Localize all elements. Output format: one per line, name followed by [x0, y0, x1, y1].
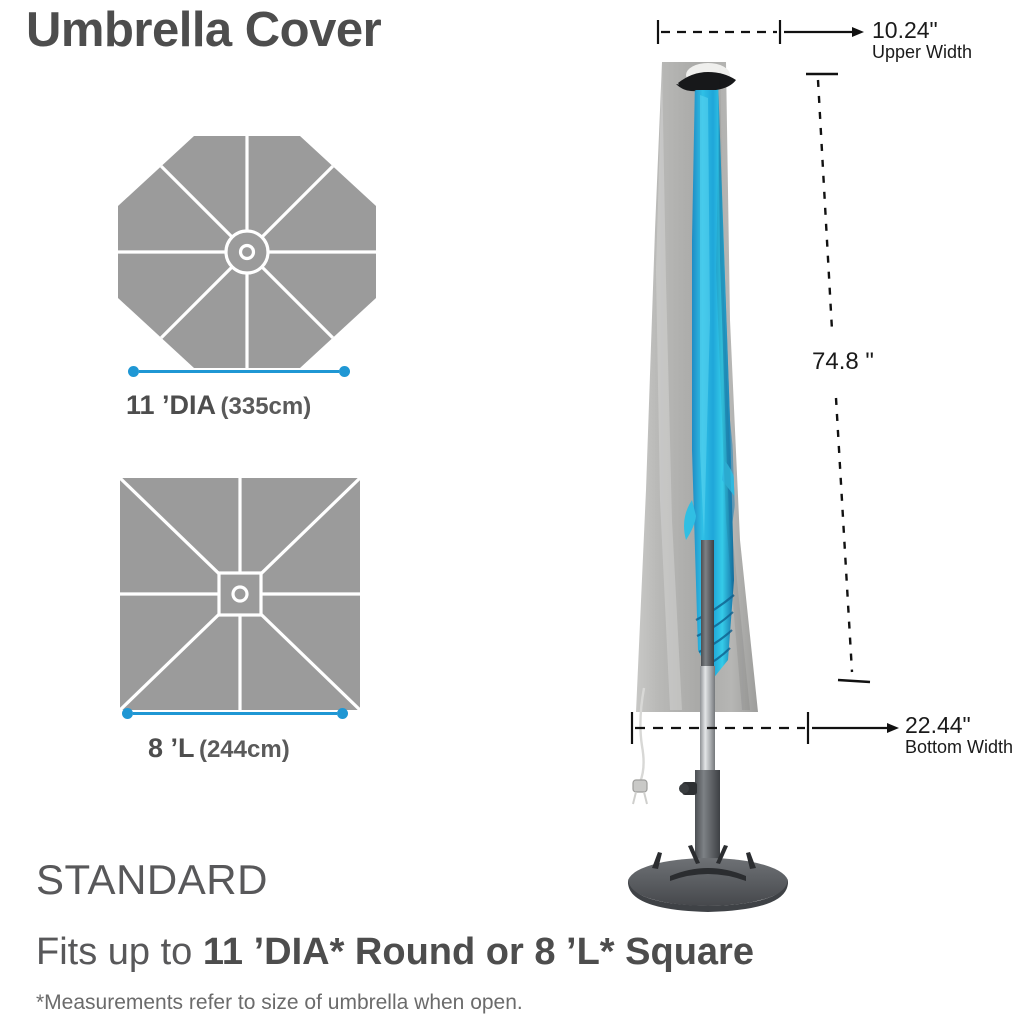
round-width-dimension-line	[128, 364, 350, 378]
dimension-bar	[133, 712, 337, 715]
dimension-endpoint-right	[337, 708, 348, 719]
upper-pole	[701, 540, 714, 670]
bottom-width-label: Bottom Width	[905, 737, 1013, 758]
standard-size-heading: STANDARD	[36, 856, 268, 904]
octagon-umbrella-icon	[118, 136, 376, 368]
round-size-secondary: (335cm)	[221, 393, 312, 420]
cord-toggle	[633, 780, 647, 792]
height-callout: 74.8 "	[812, 348, 874, 376]
dimension-bar	[139, 370, 339, 373]
round-size-primary: 11 ’DIA	[126, 390, 216, 420]
upper-width-value: 10.24"	[872, 18, 972, 42]
cord-tails	[633, 792, 647, 804]
square-size-primary: 8 ’L	[148, 733, 195, 763]
upper-width-callout: 10.24" Upper Width	[872, 18, 972, 63]
square-size-secondary: (244cm)	[199, 736, 290, 763]
fits-round-size: 11 ’DIA*	[203, 931, 345, 973]
fits-square-word: Square	[615, 931, 754, 973]
umbrella-cover-illustration	[600, 20, 900, 920]
infographic-page: Umbrella Cover	[0, 0, 1024, 1024]
lower-pole	[700, 666, 715, 774]
square-umbrella-measure-label: 8 ’L (244cm)	[148, 733, 290, 764]
dimension-endpoint-left	[122, 708, 133, 719]
dimension-endpoint-left	[128, 366, 139, 377]
bottom-width-value: 22.44"	[905, 713, 1013, 737]
square-width-dimension-line	[122, 706, 348, 720]
measurement-footnote: *Measurements refer to size of umbrella …	[36, 991, 523, 1015]
fits-prefix: Fits up to	[36, 931, 203, 973]
upper-width-label: Upper Width	[872, 42, 972, 63]
fits-square-size: 8 ’L*	[534, 931, 614, 973]
square-umbrella-icon	[120, 478, 360, 710]
fits-or: or	[486, 931, 535, 973]
umbrella-base	[628, 858, 788, 906]
round-umbrella-diagram	[118, 136, 376, 368]
fits-statement: Fits up to 11 ’DIA* Round or 8 ’L* Squar…	[36, 931, 754, 974]
page-title: Umbrella Cover	[26, 2, 381, 58]
dimension-endpoint-right	[339, 366, 350, 377]
square-umbrella-diagram	[120, 478, 360, 710]
fits-round-word: Round	[344, 931, 485, 973]
umbrella-cover-product-image	[600, 20, 900, 920]
round-umbrella-measure-label: 11 ’DIA (335cm)	[126, 390, 311, 421]
pole-adjust-knob	[679, 782, 697, 795]
bottom-width-callout: 22.44" Bottom Width	[905, 713, 1013, 758]
